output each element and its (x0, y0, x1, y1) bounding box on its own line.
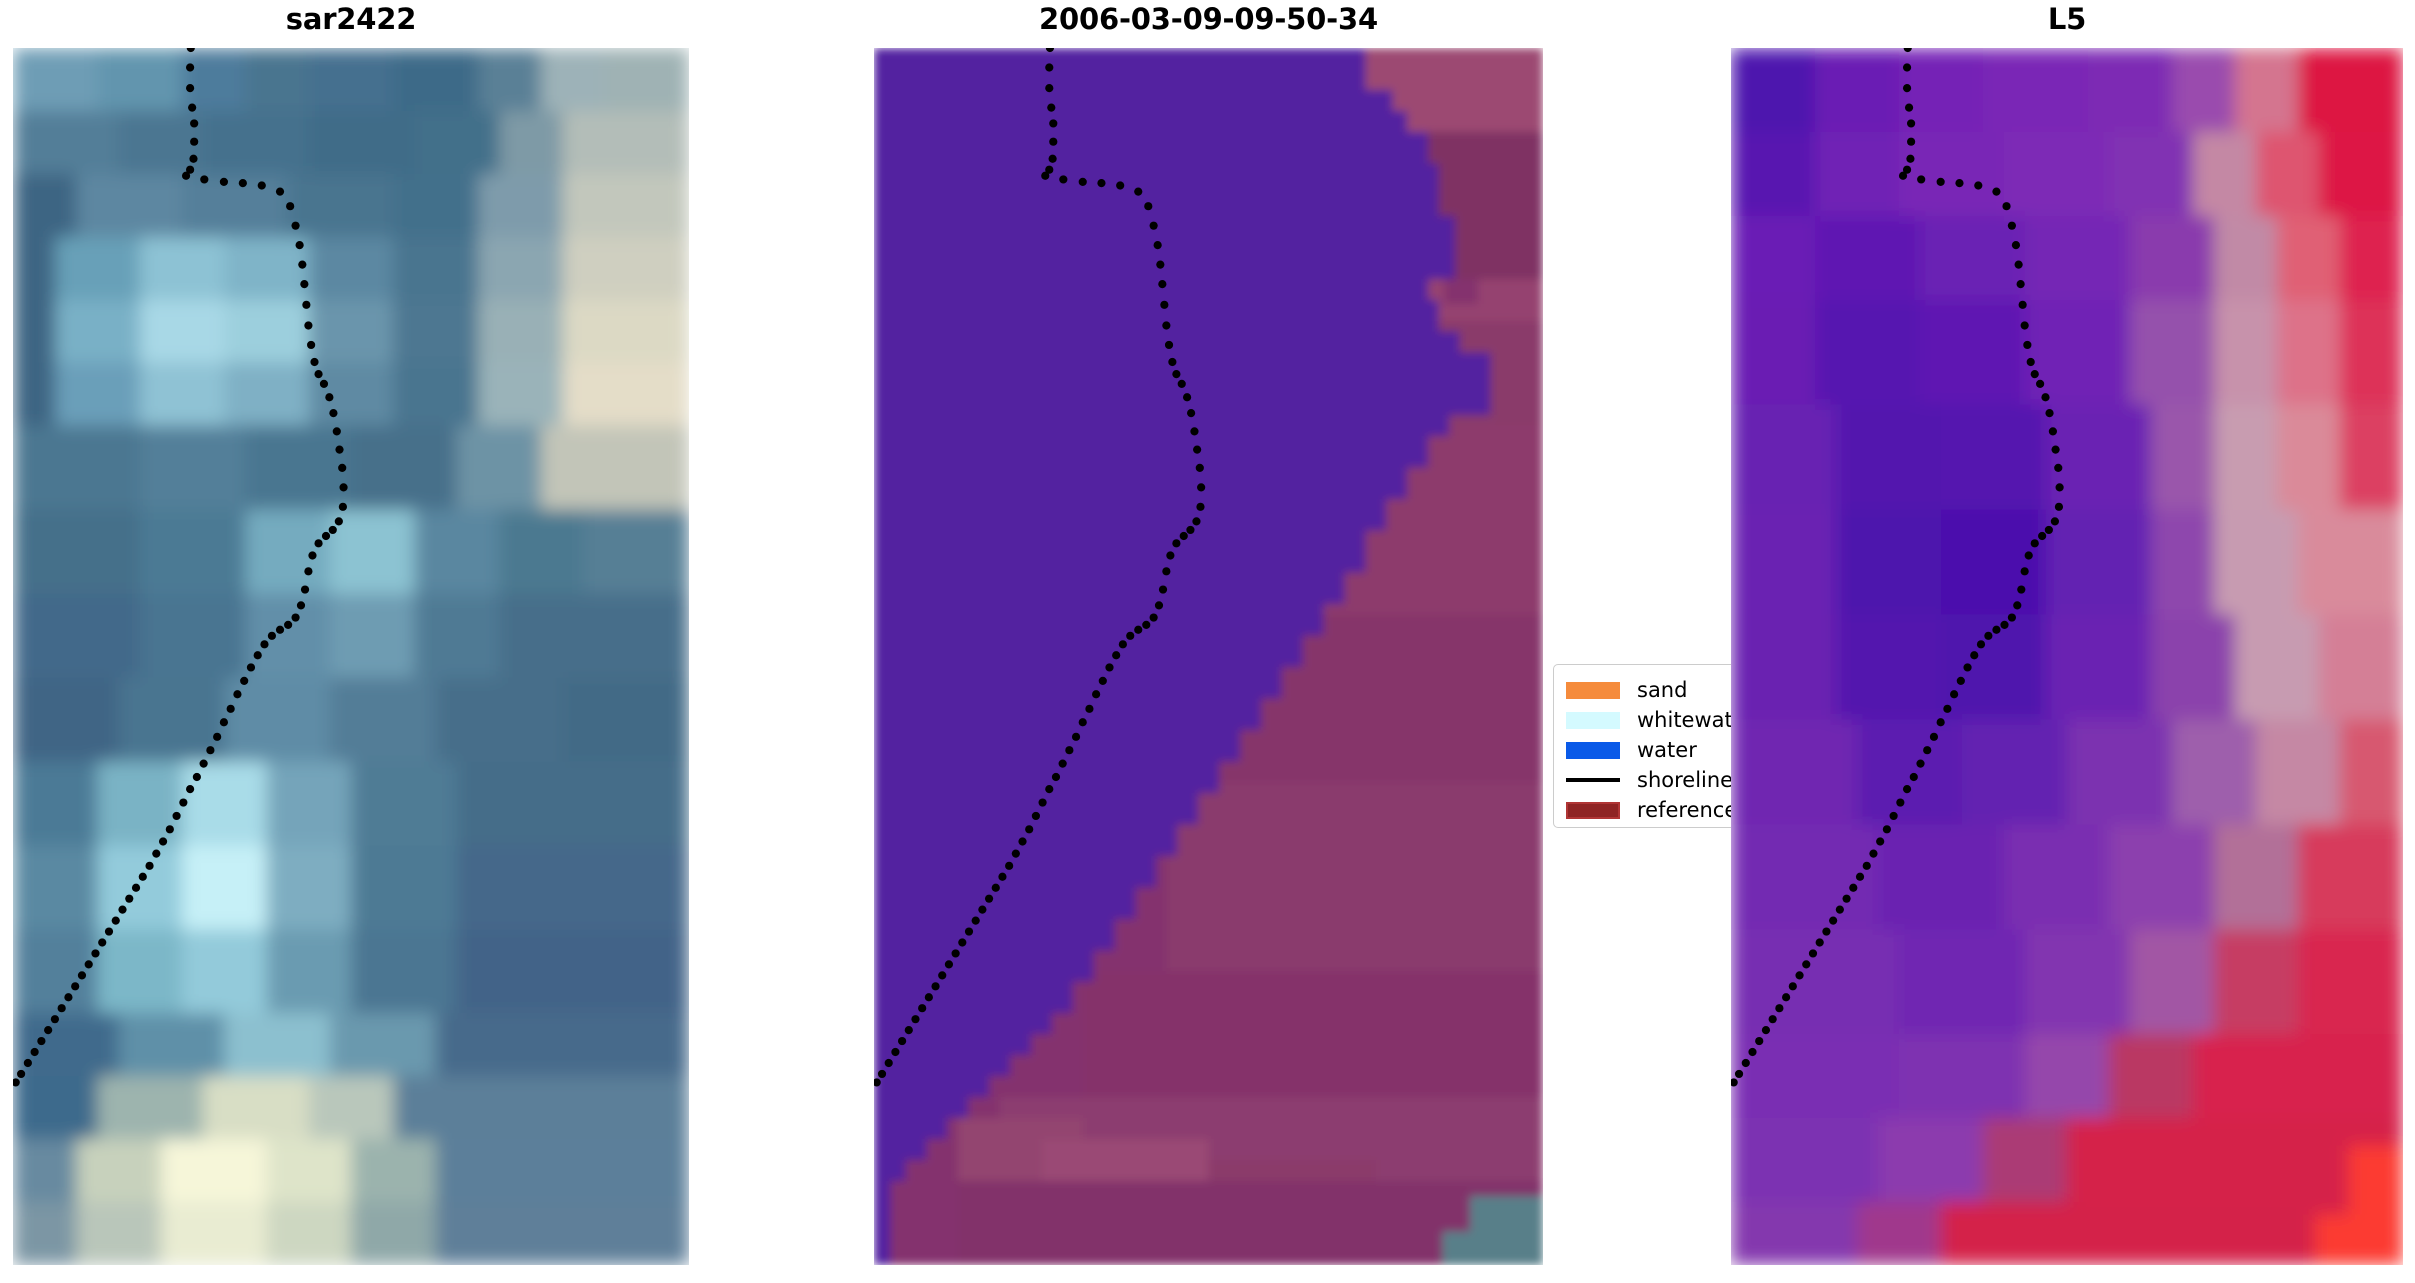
legend-label-water: water (1637, 740, 1697, 761)
legend-box: sand whitewater water shoreline referenc… (1553, 664, 1731, 828)
shoreline-line-marker (1566, 778, 1620, 782)
l5-image (1731, 48, 2403, 1265)
legend-label-whitewater: whitewater (1637, 710, 1731, 731)
l5-panel[interactable] (1731, 48, 2403, 1265)
panel-title-classification: 2006-03-09-09-50-34 (874, 2, 1543, 36)
reference-shoreline-swatch (1566, 802, 1620, 819)
sar-panel[interactable] (13, 48, 689, 1265)
classification-image (874, 48, 1543, 1265)
legend-item-sand: sand (1566, 675, 1731, 705)
whitewater-swatch (1566, 712, 1620, 729)
legend-label-sand: sand (1637, 680, 1687, 701)
matplotlib-figure: sar2422 (0, 0, 2415, 1283)
legend-item-water: water (1566, 735, 1731, 765)
legend-item-reference-shoreline: reference shoreline (1566, 795, 1731, 825)
water-swatch (1566, 742, 1620, 759)
sand-swatch (1566, 682, 1620, 699)
panel-title-l5: L5 (1731, 2, 2403, 36)
panel-title-sar: sar2422 (13, 2, 689, 36)
legend-label-reference-shoreline: reference shoreline (1637, 800, 1731, 821)
legend-item-whitewater: whitewater (1566, 705, 1731, 735)
legend-item-shoreline: shoreline (1566, 765, 1731, 795)
legend-label-shoreline: shoreline (1637, 770, 1731, 791)
legend: sand whitewater water shoreline referenc… (1553, 664, 1731, 828)
sar-image (13, 48, 689, 1265)
classification-panel[interactable] (874, 48, 1543, 1265)
